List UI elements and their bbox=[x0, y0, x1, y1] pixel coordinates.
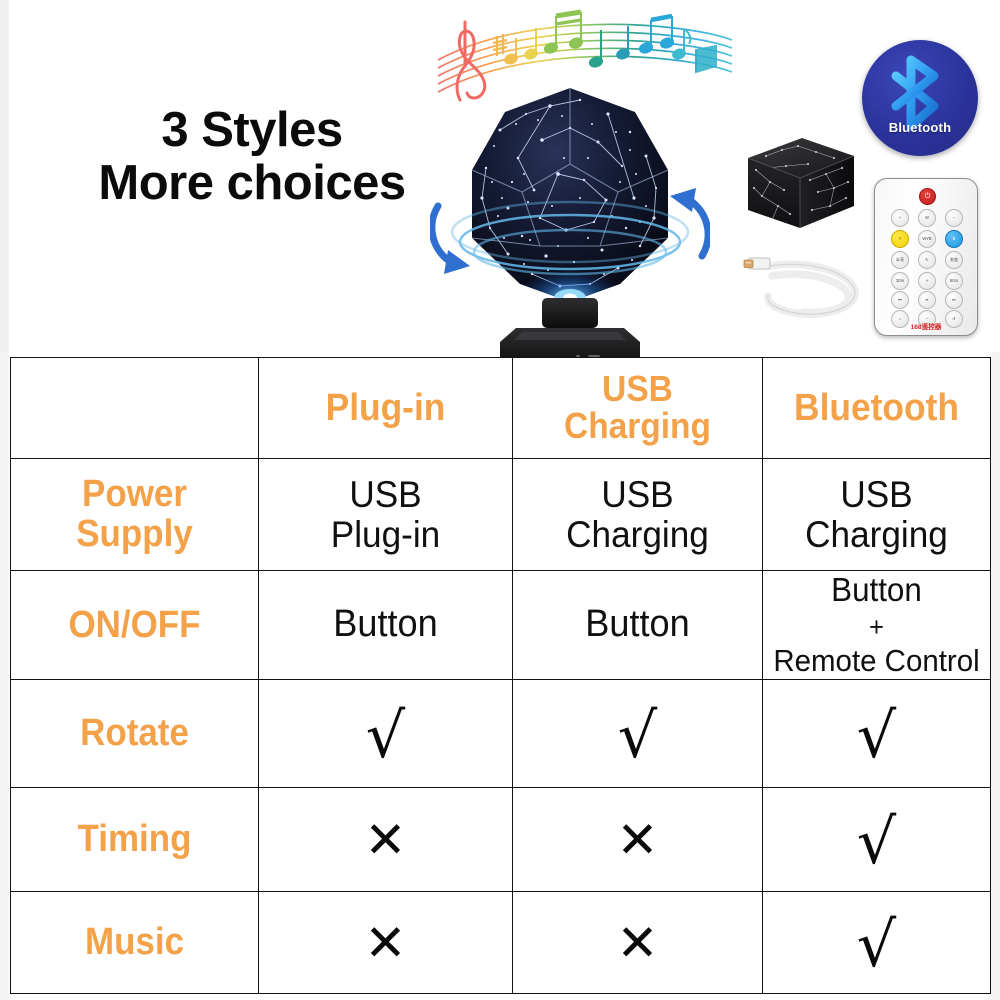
remote-button-y: Y bbox=[891, 230, 909, 248]
comparison-table: Plug-in USB Charging Bluetooth Power Sup… bbox=[10, 357, 991, 994]
table-row-on-off: ON/OFF Button Button Button + Remote Con… bbox=[11, 571, 991, 680]
cell-on-off-bluetooth: Button + Remote Control bbox=[763, 571, 991, 680]
cell-rotate-usb: √ bbox=[513, 680, 763, 788]
remote-button-vol-up: ＋ bbox=[918, 272, 936, 290]
row-label-music: Music bbox=[11, 892, 259, 994]
cell-rotate-bluetooth: √ bbox=[763, 680, 991, 788]
cell-timing-bluetooth: √ bbox=[763, 788, 991, 892]
usb-cable-image bbox=[742, 244, 872, 326]
hero-banner: 3 Styles More choices bbox=[0, 0, 1000, 356]
remote-button-minus: − bbox=[945, 209, 963, 227]
header-cell-usb-charging: USB Charging bbox=[513, 358, 763, 459]
remote-control-image: ⏻ + W − Y WYB B 半亮 ↻ 渐变 30m ＋ 60m ⏮ ⏯ ⏭ … bbox=[874, 178, 978, 336]
remote-button-wyb: WYB bbox=[918, 230, 936, 248]
cross-mark: ✕ bbox=[365, 918, 407, 968]
cell-on-off-usb: Button bbox=[513, 571, 763, 680]
cell-music-bluetooth: √ bbox=[763, 892, 991, 994]
header-cell-plug-in: Plug-in bbox=[259, 358, 513, 459]
table-row-rotate: Rotate √ √ √ bbox=[11, 680, 991, 788]
cell-rotate-plug-in: √ bbox=[259, 680, 513, 788]
headline-line-2: More choices bbox=[52, 157, 452, 210]
bluetooth-icon bbox=[862, 40, 978, 156]
remote-button-timer-30: 30m bbox=[891, 272, 909, 290]
check-mark: √ bbox=[857, 705, 897, 767]
cross-mark: ✕ bbox=[365, 815, 407, 865]
cell-music-usb: ✕ bbox=[513, 892, 763, 994]
table-row-music: Music ✕ ✕ √ bbox=[11, 892, 991, 994]
check-mark: √ bbox=[618, 705, 658, 767]
gift-box-image bbox=[738, 130, 862, 240]
row-label-on-off: ON/OFF bbox=[11, 571, 259, 680]
bluetooth-badge: Bluetooth bbox=[862, 40, 978, 156]
check-mark: √ bbox=[366, 705, 406, 767]
remote-button-prev: ⏮ bbox=[891, 291, 909, 309]
remote-button-b: B bbox=[945, 230, 963, 248]
remote-button-rotate: ↻ bbox=[918, 251, 936, 269]
table-row-power-supply: Power Supply USB Plug-in USB Charging US… bbox=[11, 459, 991, 571]
cell-power-supply-bluetooth: USB Charging bbox=[763, 459, 991, 571]
right-edge-band bbox=[991, 352, 1000, 1000]
cell-music-plug-in: ✕ bbox=[259, 892, 513, 994]
table-header-row: Plug-in USB Charging Bluetooth bbox=[11, 358, 991, 459]
cell-timing-usb: ✕ bbox=[513, 788, 763, 892]
check-mark: √ bbox=[857, 811, 897, 873]
rotation-arrows-graphic bbox=[430, 178, 710, 298]
table-row-timing: Timing ✕ ✕ √ bbox=[11, 788, 991, 892]
cross-mark: ✕ bbox=[617, 815, 659, 865]
header-cell-bluetooth: Bluetooth bbox=[763, 358, 991, 459]
row-label-timing: Timing bbox=[11, 788, 259, 892]
remote-button-fade: 渐变 bbox=[945, 251, 963, 269]
check-mark: √ bbox=[857, 914, 897, 976]
cell-on-off-plug-in: Button bbox=[259, 571, 513, 680]
remote-button-next: ⏭ bbox=[945, 291, 963, 309]
header-cell-blank bbox=[11, 358, 259, 459]
remote-power-button: ⏻ bbox=[919, 188, 936, 205]
cell-power-supply-usb: USB Charging bbox=[513, 459, 763, 571]
remote-button-plus: + bbox=[891, 209, 909, 227]
cell-timing-plug-in: ✕ bbox=[259, 788, 513, 892]
page-title: 3 Styles More choices bbox=[52, 104, 452, 210]
left-edge-band-bottom bbox=[0, 352, 9, 1000]
cell-power-supply-plug-in: USB Plug-in bbox=[259, 459, 513, 571]
remote-button-play: ⏯ bbox=[918, 291, 936, 309]
remote-button-timer-60: 60m bbox=[945, 272, 963, 290]
row-label-rotate: Rotate bbox=[11, 680, 259, 788]
remote-model-caption: 168遥控器 bbox=[875, 321, 977, 331]
star-projector-lamp bbox=[430, 70, 710, 360]
bluetooth-badge-label: Bluetooth bbox=[862, 120, 978, 135]
headline-line-1: 3 Styles bbox=[52, 104, 452, 157]
remote-button-w: W bbox=[918, 209, 936, 227]
cross-mark: ✕ bbox=[617, 918, 659, 968]
remote-button-brightness: 半亮 bbox=[891, 251, 909, 269]
row-label-power-supply: Power Supply bbox=[11, 459, 259, 571]
